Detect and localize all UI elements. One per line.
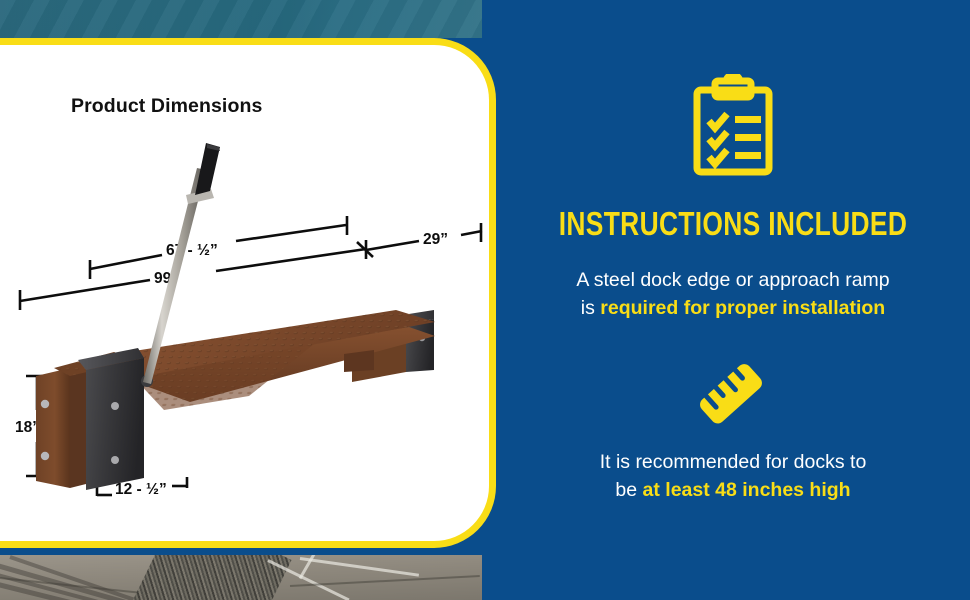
blurb1-line2-highlight: required for proper installation [600,297,885,319]
right-bumper [406,319,434,372]
left-backplate-edge [70,364,86,488]
page-title: Product Dimensions [71,95,262,118]
left-backplate [36,368,70,488]
blurb2-line1: It is recommended for docks to [600,451,867,473]
bolt [41,452,49,460]
dim-label-67: 67 - ½” [166,242,218,259]
dim-label-12: 12 - ½” [115,481,167,498]
infographic-root: Product Dimensions [0,0,970,600]
ruler-icon [496,356,970,441]
blurb2-line2-highlight: at least 48 inches high [643,479,851,501]
instructions-headline: INSTRUCTIONS INCLUDED [543,205,922,243]
dock-leveler-product [36,143,435,490]
dock-height-recommendation-text: It is recommended for docks to be at lea… [496,448,970,504]
bolt [41,400,49,408]
pavement-marking [300,557,419,577]
product-diagram: 67 - ½” 99” 29” 18” 12 - ½” [14,138,484,528]
instructions-panel: INSTRUCTIONS INCLUDED A steel dock edge … [496,0,970,600]
bolt [111,456,119,464]
clipboard-checklist-icon [496,74,970,183]
installation-requirement-text: A steel dock edge or approach ramp is re… [496,266,970,322]
bottom-pavement-photo [0,555,482,600]
blurb1-line2-plain: is [581,297,601,319]
bolt [111,402,119,410]
gravel-strip [113,555,291,600]
left-bumper [86,358,144,490]
blurb2-line2-plain: be [615,479,642,501]
blurb1-line1: A steel dock edge or approach ramp [576,269,889,291]
pavement-seam [290,575,480,587]
top-photo-band [0,0,482,38]
dim-label-29: 29” [423,231,448,248]
